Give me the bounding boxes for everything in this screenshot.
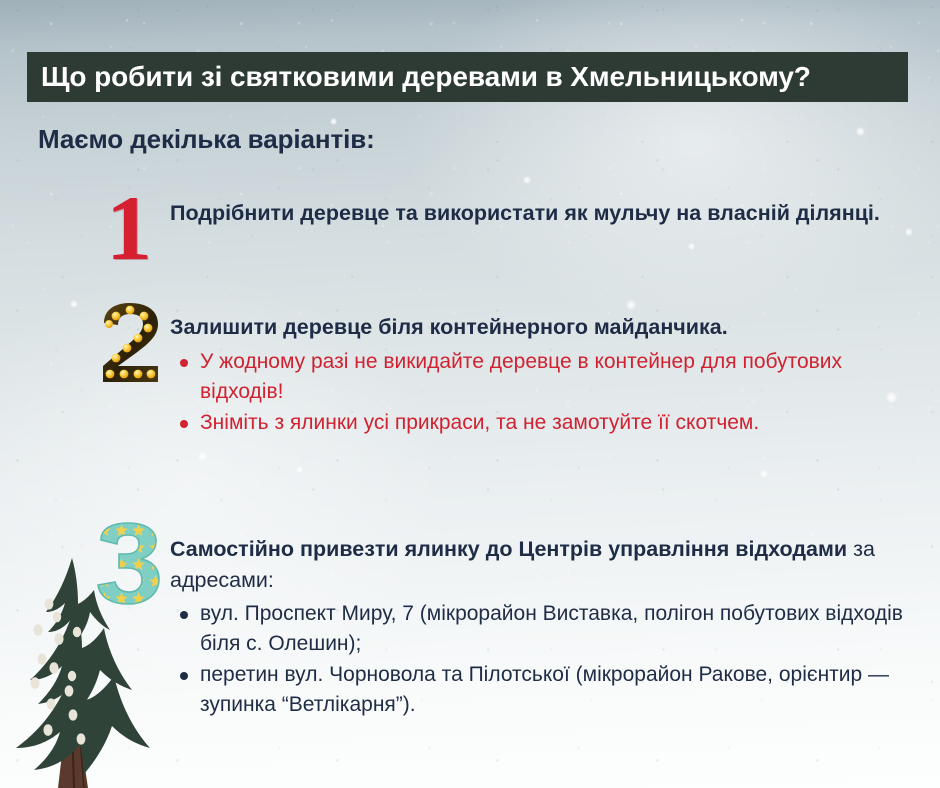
numeral-1-glyph: 1 — [98, 186, 160, 270]
christmas-tree-graphic — [2, 552, 152, 788]
list-item: У жодному разі не викидайте деревце в ко… — [170, 347, 930, 407]
christmas-tree-icon — [2, 552, 152, 788]
snow-flake — [523, 176, 531, 184]
poster-subtitle: Маємо декілька варіантів: — [38, 124, 375, 155]
option-1-heading-bold: Подрібнити деревце та використати як мул… — [170, 201, 880, 225]
option-1-body: Подрібнити деревце та використати як мул… — [170, 198, 930, 229]
list-item: перетин вул. Чорновола та Пілотської (мі… — [170, 660, 930, 720]
list-item: вул. Проспект Миру, 7 (мікрорайон Вистав… — [170, 599, 930, 659]
option-2-warning-list: У жодному разі не викидайте деревце в ко… — [170, 347, 930, 438]
option-3-address-list: вул. Проспект Миру, 7 (мікрорайон Вистав… — [170, 599, 930, 720]
infographic-poster: Що робити зі святковими деревами в Хмель… — [0, 0, 940, 788]
snow-flake — [70, 300, 78, 308]
snow-flake — [626, 300, 636, 310]
snow-flake — [296, 466, 303, 473]
option-2-body: Залишити деревце біля контейнерного майд… — [170, 312, 930, 439]
snow-flake — [688, 243, 695, 250]
numeral-2-glyph — [98, 302, 164, 384]
list-item: Зніміть з ялинки усі прикраси, та не зам… — [170, 408, 930, 438]
numeral-2-marquee — [98, 302, 164, 384]
numeral-1-red: 1 — [98, 186, 160, 270]
snow-flake — [905, 228, 913, 236]
option-1-heading: Подрібнити деревце та використати як мул… — [170, 198, 930, 229]
option-3-body: Самостійно привезти ялинку до Центрів уп… — [170, 534, 930, 721]
option-2-heading: Залишити деревце біля контейнерного майд… — [170, 312, 930, 343]
poster-title-bar: Що робити зі святковими деревами в Хмель… — [27, 52, 908, 102]
option-3-heading: Самостійно привезти ялинку до Центрів уп… — [170, 534, 930, 595]
snow-flake — [198, 452, 207, 461]
snow-flake — [856, 127, 865, 136]
page-title: Що робити зі святковими деревами в Хмель… — [41, 61, 811, 93]
snow-flake — [760, 470, 768, 478]
option-2-heading-bold: Залишити деревце біля контейнерного майд… — [170, 315, 728, 339]
option-3-heading-bold: Самостійно привезти ялинку до Центрів уп… — [170, 537, 847, 561]
